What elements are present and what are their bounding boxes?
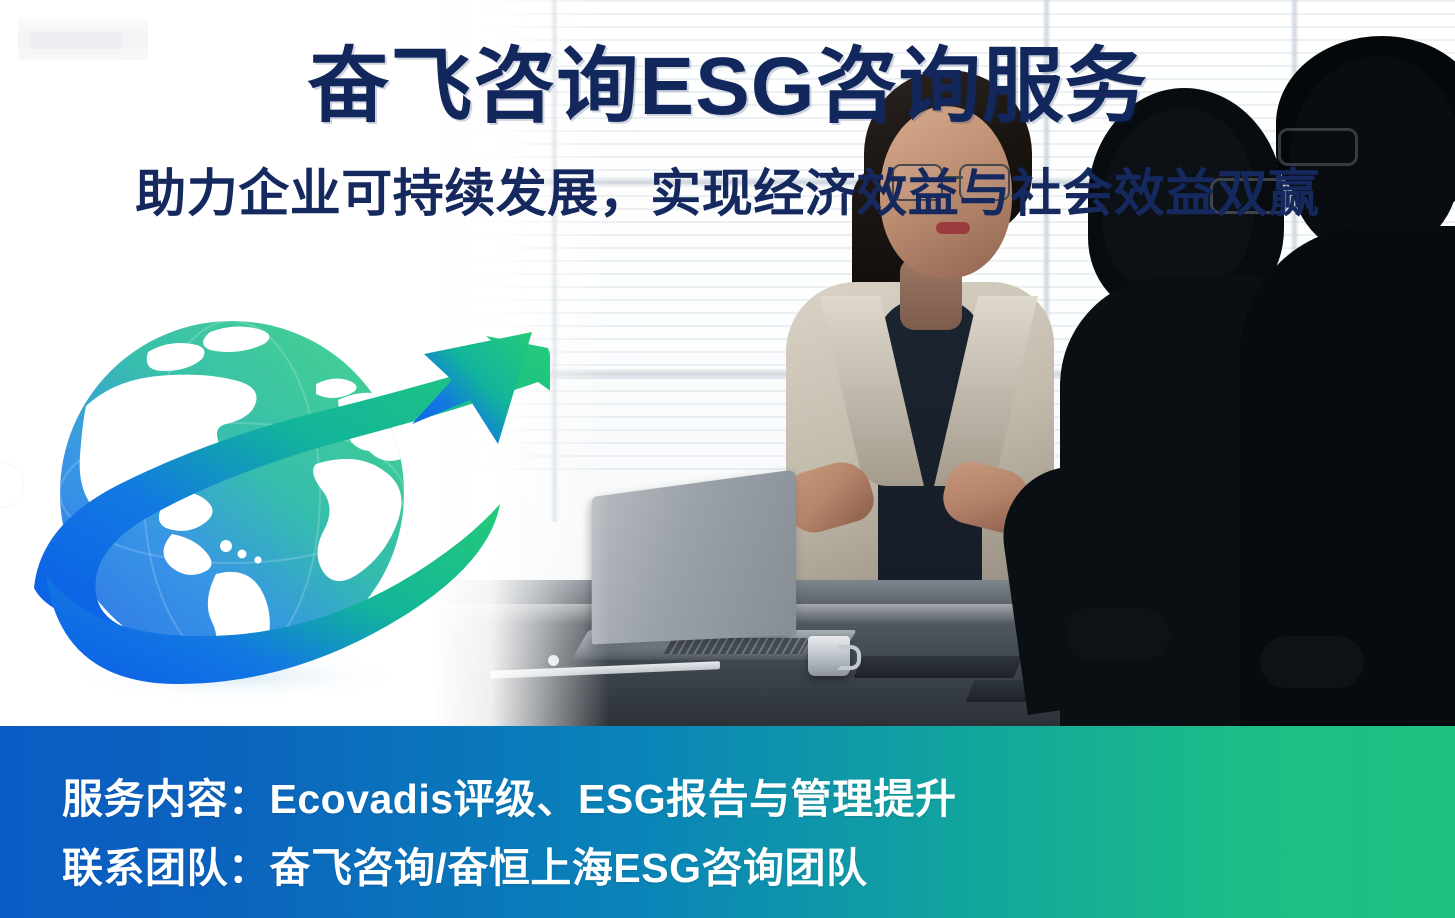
watermark-block — [18, 18, 148, 60]
laptop-screen — [592, 469, 796, 644]
attendee1-arm — [994, 445, 1255, 715]
attendee-clasped-hands — [1066, 608, 1170, 660]
globe-arrow-icon — [20, 288, 550, 708]
laptop-keyboard — [663, 638, 810, 654]
glasses-lens-left — [892, 164, 943, 201]
info-banner: 服务内容：Ecovadis评级、ESG报告与管理提升 联系团队：奋飞咨询/奋恒上… — [0, 726, 1455, 918]
hero-photo — [430, 0, 1455, 732]
glasses-lens-right — [959, 164, 1010, 201]
silhouette-attendee-2 — [1270, 20, 1455, 732]
banner-contact-line: 联系团队：奋飞咨询/奋恒上海ESG咨询团队 — [62, 834, 867, 894]
presenter-lips — [936, 222, 970, 234]
attendee-clasped-hands — [1260, 636, 1364, 688]
banner-services-line: 服务内容：Ecovadis评级、ESG报告与管理提升 — [62, 765, 957, 825]
coffee-cup — [808, 636, 850, 676]
presenter-glasses-icon — [892, 164, 1010, 198]
desk-document — [854, 656, 1023, 678]
attendee2-glasses-icon — [1278, 128, 1358, 166]
esg-promotional-poster: 奋飞咨询ESG咨询服务 助力企业可持续发展，实现经济效益与社会效益双赢 服务内容… — [0, 0, 1455, 918]
